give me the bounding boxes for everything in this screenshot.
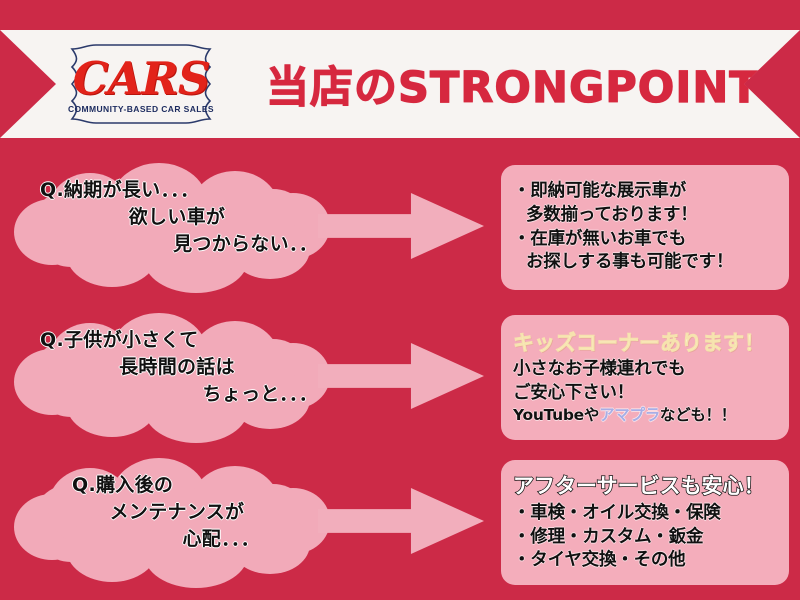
question-line-3: 見つからない．． xyxy=(14,231,330,258)
answer-line: ・即納可能な展示車が xyxy=(513,180,779,204)
question-line-2: メンテナンスが xyxy=(14,499,330,526)
answer-headline: キッズコーナーあります！ xyxy=(513,329,779,357)
question-line-3: 心配．．． xyxy=(14,526,330,553)
question-line-2: 長時間の話は xyxy=(14,354,330,381)
strongpoint-poster: CARS COMMUNITY-BASED CAR SALES 当店のSTRONG… xyxy=(0,0,800,600)
answer-line: 多数揃っております！ xyxy=(513,204,779,228)
answer-box: アフターサービスも安心！ ・車検・オイル交換・保険 ・修理・カスタム・鈑金 ・タ… xyxy=(501,460,789,585)
answer-box: ・即納可能な展示車が 多数揃っております！ ・在庫が無いお車でも お探しする事も… xyxy=(501,165,789,290)
question-cloud: Q.納期が長い．．． 欲しい車が 見つからない．． xyxy=(14,163,330,293)
arrow-right-icon xyxy=(318,193,484,259)
banner-inner: CARS COMMUNITY-BASED CAR SALES 当店のSTRONG… xyxy=(0,43,800,125)
answer-line: ・車検・オイル交換・保険 xyxy=(513,502,779,526)
question-line-1: Q.子供が小さくて xyxy=(14,327,330,354)
answer-footnote-highlight: アマプラ xyxy=(599,406,660,424)
answer-headline: アフターサービスも安心！ xyxy=(513,472,779,500)
strongpoint-row: Q.納期が長い．．． 欲しい車が 見つからない．． ・即納可能な展示車が 多数揃… xyxy=(0,155,800,300)
answer-line: ・タイヤ交換・その他 xyxy=(513,549,779,573)
strongpoint-row: Q.子供が小さくて 長時間の話は ちょっと．．． キッズコーナーあります！ 小さ… xyxy=(0,305,800,450)
question-cloud: Q.購入後の メンテナンスが 心配．．． xyxy=(14,458,330,588)
question-text: Q.納期が長い．．． 欲しい車が 見つからない．． xyxy=(14,177,330,258)
question-text: Q.子供が小さくて 長時間の話は ちょっと．．． xyxy=(14,327,330,408)
answer-line: 小さなお子様連れでも xyxy=(513,358,779,382)
answer-footnote-after: なども！！ xyxy=(660,406,736,424)
strongpoint-row: Q.購入後の メンテナンスが 心配．．． アフターサービスも安心！ ・車検・オイ… xyxy=(0,450,800,595)
answer-line: お探しする事も可能です！ xyxy=(513,251,779,275)
cars-logo: CARS COMMUNITY-BASED CAR SALES xyxy=(52,43,230,125)
header-banner: CARS COMMUNITY-BASED CAR SALES 当店のSTRONG… xyxy=(0,30,800,138)
answer-box: キッズコーナーあります！ 小さなお子様連れでも ご安心下さい！ YouTubeや… xyxy=(501,315,789,440)
arrow-right-icon xyxy=(318,488,484,554)
question-cloud: Q.子供が小さくて 長時間の話は ちょっと．．． xyxy=(14,313,330,443)
answer-line: ・在庫が無いお車でも xyxy=(513,228,779,252)
page-title: 当店のSTRONGPOINT xyxy=(266,53,760,115)
question-line-1: Q.購入後の xyxy=(14,472,330,499)
question-line-3: ちょっと．．． xyxy=(14,381,330,408)
answer-footnote: YouTubeやアマプラなども！！ xyxy=(513,405,779,426)
answer-footnote-before: YouTubeや xyxy=(513,406,599,424)
question-line-1: Q.納期が長い．．． xyxy=(14,177,330,204)
logo-tagline: COMMUNITY-BASED CAR SALES xyxy=(68,104,214,114)
answer-line: ご安心下さい！ xyxy=(513,382,779,406)
arrow-right-icon xyxy=(318,343,484,409)
logo-wordmark: CARS xyxy=(73,56,210,101)
answer-line: ・修理・カスタム・鈑金 xyxy=(513,526,779,550)
question-text: Q.購入後の メンテナンスが 心配．．． xyxy=(14,472,330,553)
question-line-2: 欲しい車が xyxy=(14,204,330,231)
